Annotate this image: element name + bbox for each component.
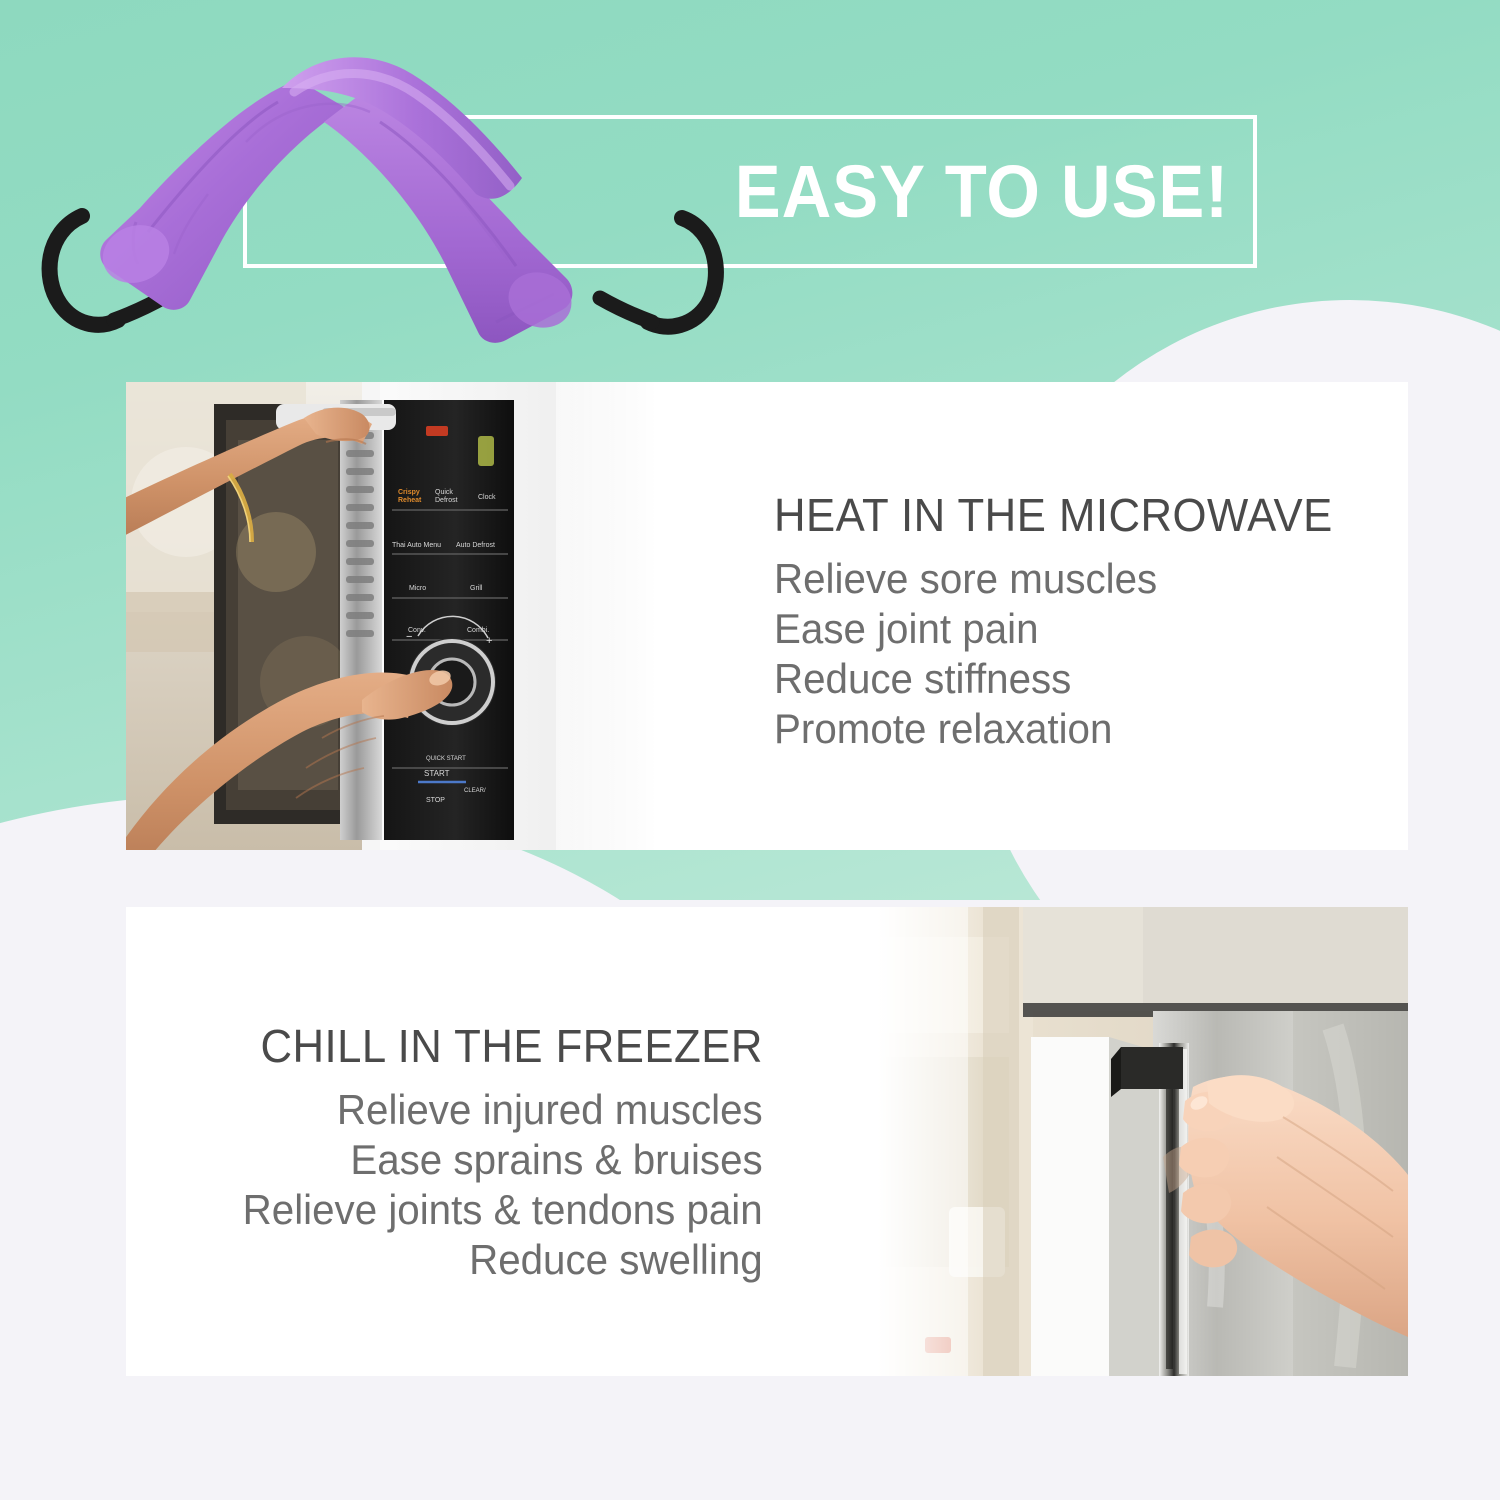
svg-text:Quick: Quick: [435, 489, 453, 496]
svg-text:Defrost: Defrost: [435, 497, 458, 504]
benefit-item: Relieve sore muscles: [774, 554, 1157, 604]
svg-text:Combi.: Combi.: [467, 627, 489, 634]
benefit-item: Relieve joints & tendons pain: [243, 1185, 763, 1235]
svg-text:STOP: STOP: [426, 797, 445, 804]
svg-text:Clock: Clock: [478, 494, 496, 501]
benefit-list-chill: Relieve injured muscles Ease sprains & b…: [221, 1085, 763, 1285]
section-copy-heat: HEAT IN THE MICROWAVE Relieve sore muscl…: [671, 382, 1408, 850]
svg-text:Grill: Grill: [470, 585, 483, 592]
svg-text:Reheat: Reheat: [398, 497, 422, 504]
product-image: [40, 22, 730, 352]
benefit-item: Reduce swelling: [243, 1235, 763, 1285]
benefit-item: Ease joint pain: [774, 604, 1157, 654]
svg-text:QUICK START: QUICK START: [426, 756, 466, 762]
section-card-heat: Crispy Reheat Quick Defrost Clock Thai A…: [126, 382, 1408, 850]
section-card-chill: CHILL IN THE FREEZER Relieve injured mus…: [126, 907, 1408, 1376]
benefit-item: Relieve injured muscles: [243, 1085, 763, 1135]
benefit-item: Promote relaxation: [774, 704, 1157, 754]
photo-fade-edge: [551, 382, 671, 850]
svg-text:START: START: [424, 769, 450, 778]
section-title-heat: HEAT IN THE MICROWAVE: [774, 488, 1333, 542]
photo-fade-edge: [863, 907, 983, 1376]
svg-text:Micro: Micro: [409, 585, 426, 592]
section-title-chill: CHILL IN THE FREEZER: [261, 1019, 763, 1073]
svg-text:Thai Auto Menu: Thai Auto Menu: [392, 542, 441, 549]
infographic-canvas: EASY TO USE!: [0, 0, 1500, 1500]
svg-text:Auto Defrost: Auto Defrost: [456, 542, 495, 549]
photo-hand-pressing-microwave-control-panel: Crispy Reheat Quick Defrost Clock Thai A…: [126, 382, 671, 850]
benefit-list-heat: Relieve sore muscles Ease joint pain Red…: [774, 554, 1173, 754]
svg-text:−: −: [406, 631, 412, 643]
photo-hand-opening-freezer-door: [863, 907, 1408, 1376]
svg-text:CLEAR/: CLEAR/: [464, 788, 486, 794]
product-strap-right: [600, 218, 716, 327]
benefit-item: Reduce stiffness: [774, 654, 1157, 704]
svg-text:Crispy: Crispy: [398, 489, 420, 496]
benefit-item: Ease sprains & bruises: [243, 1135, 763, 1185]
section-copy-chill: CHILL IN THE FREEZER Relieve injured mus…: [126, 907, 863, 1376]
